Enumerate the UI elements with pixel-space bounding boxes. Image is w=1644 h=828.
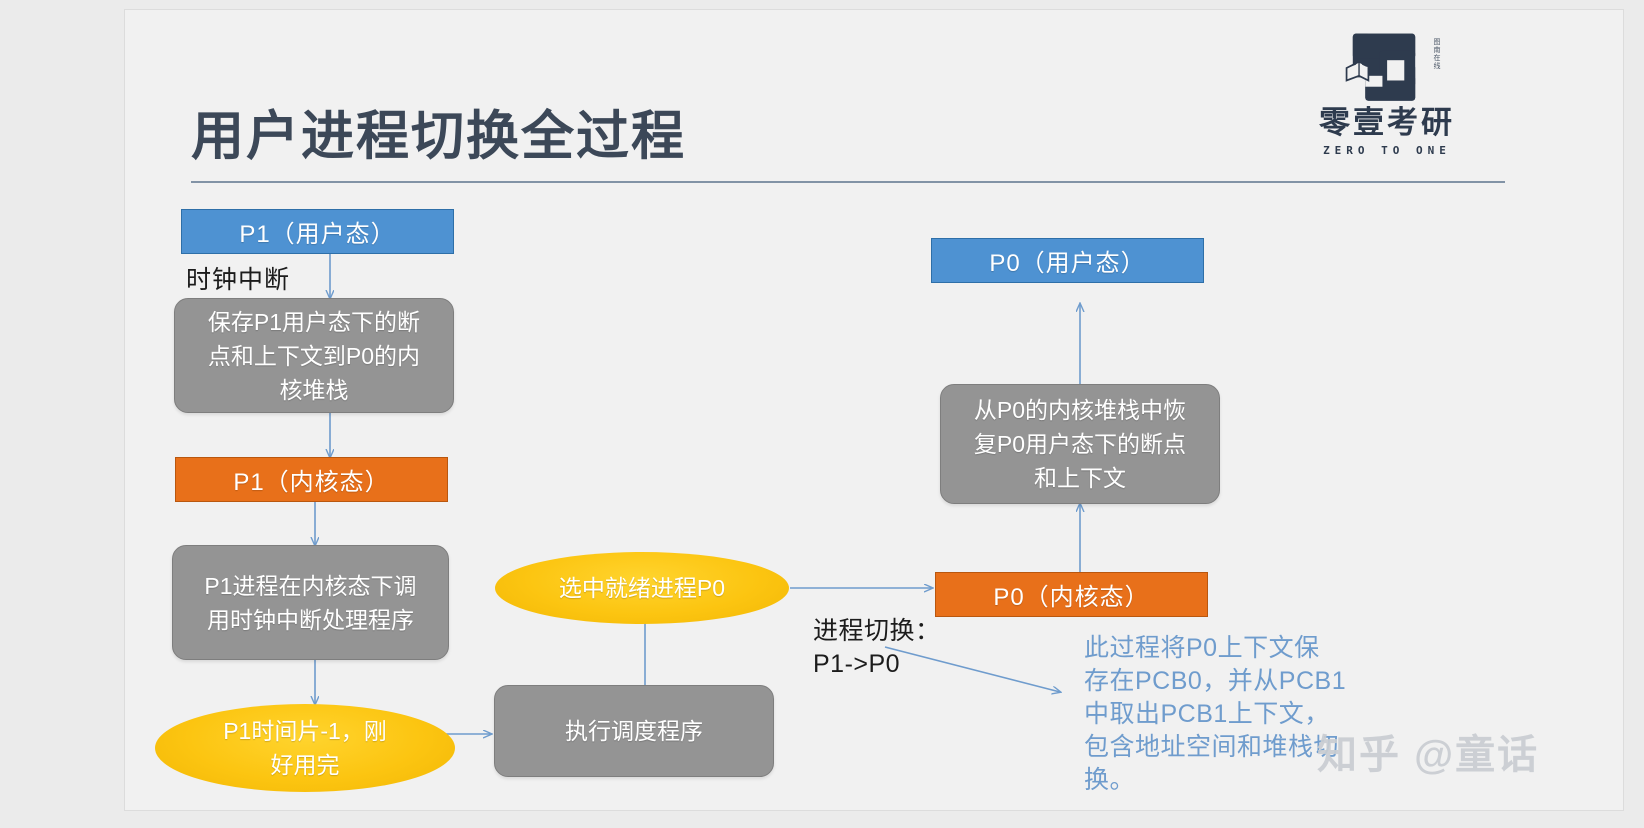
screenshot-stage: 用户进程切换全过程 (0, 0, 1644, 828)
node-restore-context[interactable]: 从P0的内核堆栈中恢 复P0用户态下的断点 和上下文 (940, 384, 1220, 504)
note-context-switch-detail: 此过程将P0上下文保 存在PCB0，并从PCB1 中取出PCB1上下文， 包含地… (1084, 632, 1346, 797)
node-scheduler[interactable]: 执行调度程序 (494, 685, 774, 777)
logo-side-text: 图南在线 (1429, 38, 1441, 70)
title-divider (191, 181, 1505, 183)
watermark: 知乎 @童话 (1317, 722, 1539, 780)
node-p1-user[interactable]: P1（用户态） (181, 209, 454, 254)
label-clock-interrupt: 时钟中断 (186, 260, 290, 296)
page-title: 用户进程切换全过程 (191, 94, 686, 170)
node-p0-kernel[interactable]: P0（内核态） (935, 572, 1208, 617)
brand-logo: 图南在线 零壹考研 ZERO TO ONE (1307, 32, 1467, 172)
label-process-switch: 进程切换： P1->P0 (813, 615, 941, 681)
node-save-context[interactable]: 保存P1用户态下的断 点和上下文到P0的内 核堆栈 (174, 298, 454, 413)
logo-name-cn: 零壹考研 (1307, 106, 1467, 140)
logo-name-en: ZERO TO ONE (1307, 144, 1467, 157)
logo-mark-icon (1345, 32, 1423, 104)
node-p1-kernel[interactable]: P1（内核态） (175, 457, 448, 502)
node-select-ready-p0[interactable]: 选中就绪进程P0 (495, 552, 789, 624)
presentation-slide: 用户进程切换全过程 (124, 9, 1624, 811)
node-clock-handler[interactable]: P1进程在内核态下调 用时钟中断处理程序 (172, 545, 449, 660)
node-p0-user[interactable]: P0（用户态） (931, 238, 1204, 283)
node-timeslice-used[interactable]: P1时间片-1，刚 好用完 (155, 704, 455, 792)
